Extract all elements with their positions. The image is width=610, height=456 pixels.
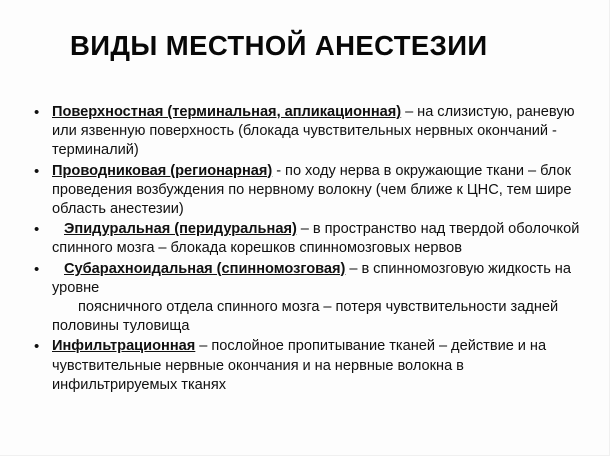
bullet-point-icon: • [34,103,39,122]
bullet-point-icon: • [34,260,39,279]
list-item-subline: поясничного отдела спинного мозга – поте… [52,298,586,336]
list-item-term: Инфильтрационная [52,338,195,354]
bullet-point-icon: • [34,220,39,239]
list-item: • Проводниковая (регионарная) - по ходу … [0,162,610,220]
page-title: ВИДЫ МЕСТНОЙ АНЕСТЕЗИИ [70,31,550,62]
list-item-text: Проводниковая (регионарная) - по ходу не… [52,162,586,220]
list-item: • Поверхностная (терминальная, апликацио… [0,103,610,161]
bullet-point-icon: • [34,162,39,181]
list-item: • Эпидуральная (перидуральная) – в прост… [0,220,610,258]
list-item: • Субарахноидальная (спинномозговая) – в… [0,260,610,337]
list-item-text: Субарахноидальная (спинномозговая) – в с… [52,260,586,337]
list-item: • Инфильтрационная – послойное пропитыва… [0,337,610,395]
list-item-text: Поверхностная (терминальная, апликационн… [52,103,586,161]
bullet-list: • Поверхностная (терминальная, апликацио… [0,103,610,396]
bullet-point-icon: • [34,337,39,356]
list-item-term: Поверхностная (терминальная, апликационн… [52,104,401,120]
list-item-text: Эпидуральная (перидуральная) – в простра… [52,220,586,258]
presentation-slide: ВИДЫ МЕСТНОЙ АНЕСТЕЗИИ • Поверхностная (… [0,0,610,456]
list-item-term: Проводниковая (регионарная) [52,163,272,179]
list-item-text: Инфильтрационная – послойное пропитывани… [52,337,586,395]
list-item-term: Эпидуральная (перидуральная) [64,221,297,237]
list-item-term: Субарахноидальная (спинномозговая) [64,261,345,277]
